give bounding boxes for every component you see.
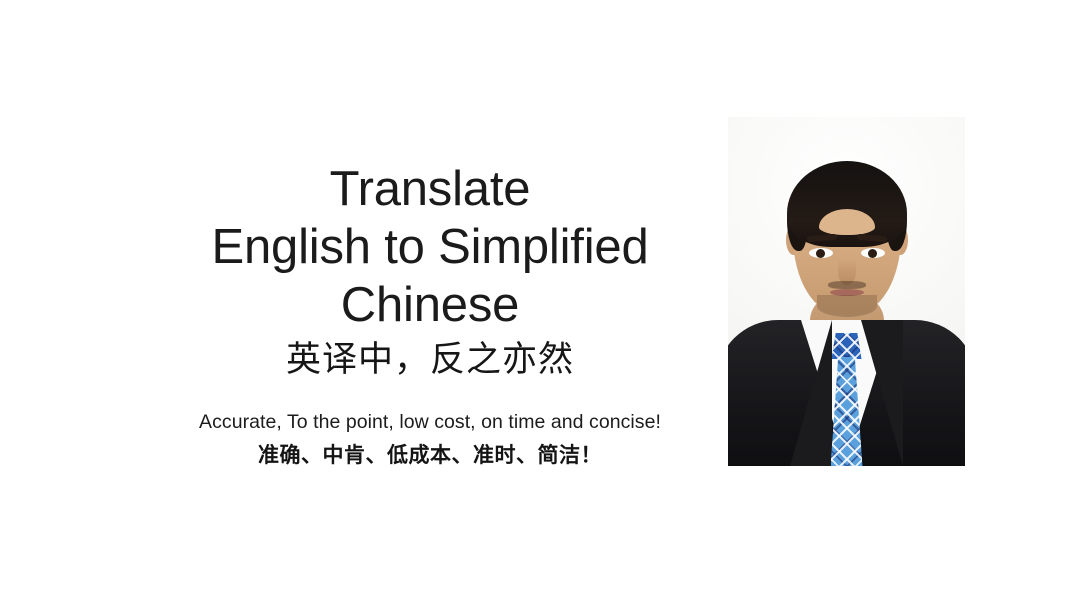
portrait-moustache xyxy=(828,281,866,289)
page-title: Translate English to Simplified Chinese xyxy=(110,160,750,334)
portrait-pupil-right xyxy=(868,249,877,258)
tagline-chinese: 准确、中肯、低成本、准时、简洁！ xyxy=(110,440,750,470)
portrait-lapel-left xyxy=(790,320,832,466)
portrait-pupil-left xyxy=(816,249,825,258)
portrait-lapel-right xyxy=(861,320,903,466)
portrait-eye-left xyxy=(809,248,833,258)
portrait-photo xyxy=(728,117,965,466)
portrait-eye-right xyxy=(861,248,885,258)
tagline-english: Accurate, To the point, low cost, on tim… xyxy=(110,409,750,435)
portrait-chin-shadow xyxy=(817,295,877,317)
headline-text-block: Translate English to Simplified Chinese … xyxy=(110,160,750,470)
slide-canvas: Translate English to Simplified Chinese … xyxy=(0,0,1079,608)
page-title-chinese: 英译中，反之亦然 xyxy=(110,337,750,383)
portrait-tie-knot xyxy=(832,333,862,359)
